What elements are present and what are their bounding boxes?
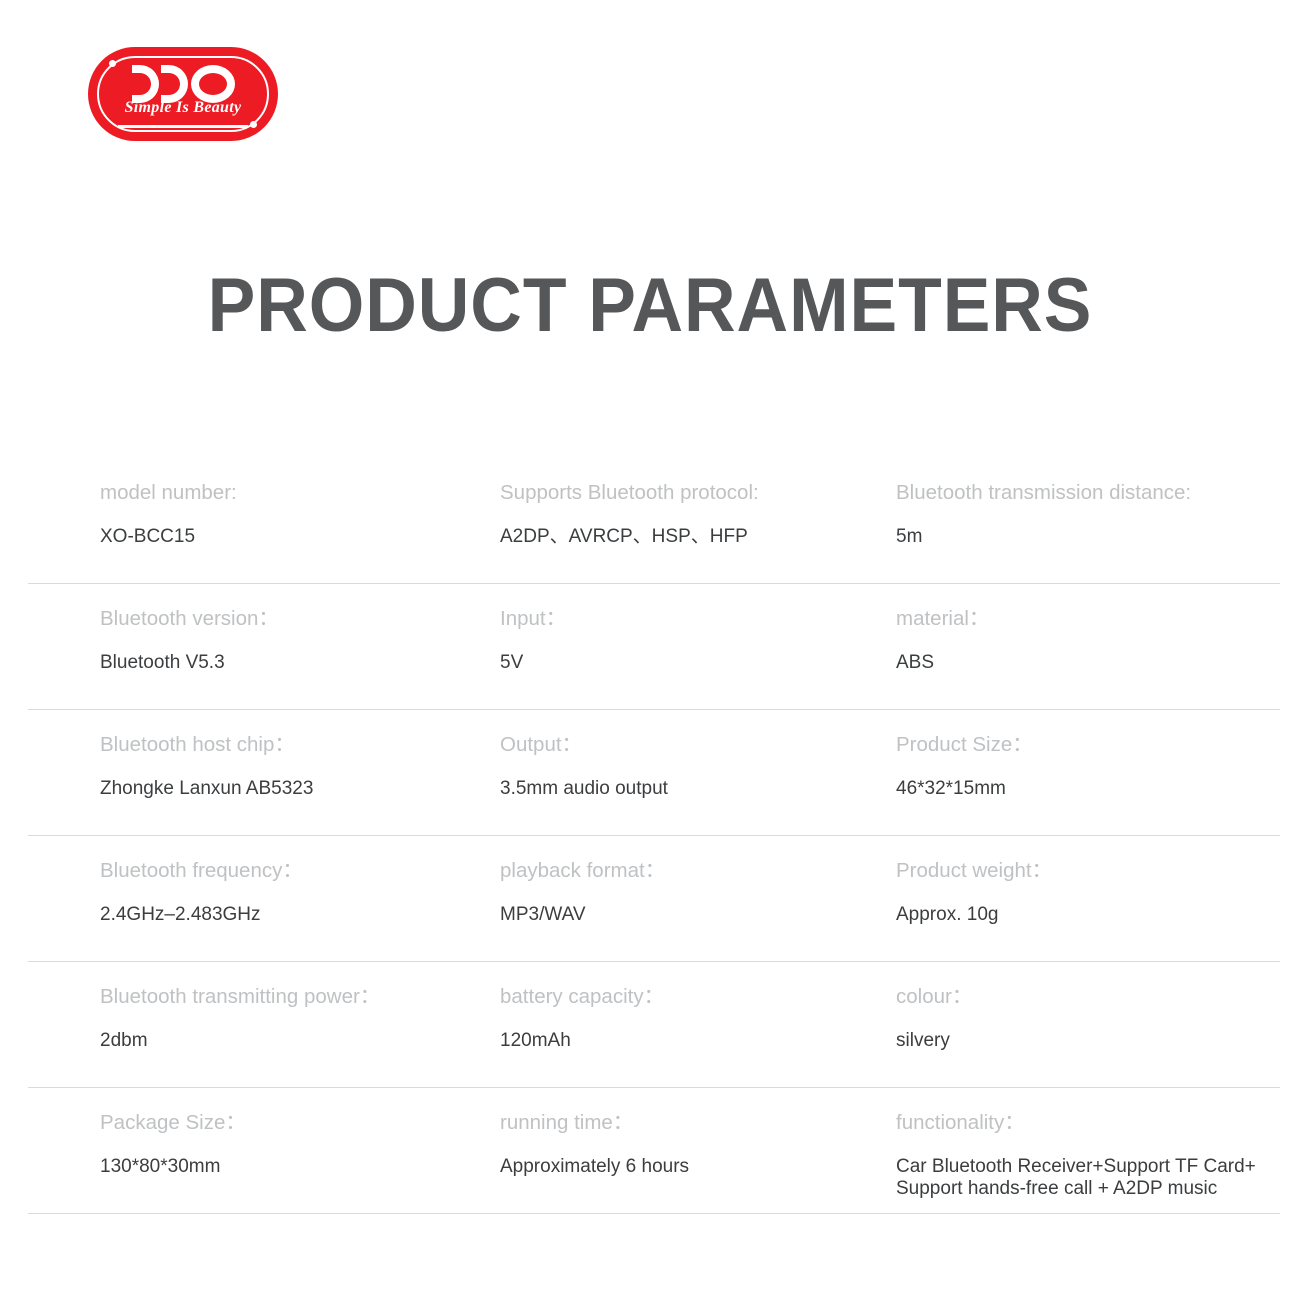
spec-cell: battery capacity： 120mAh (500, 984, 896, 1053)
logo-letter-o-icon (191, 65, 235, 103)
spec-value: Zhongke Lanxun AB5323 (100, 777, 500, 801)
spec-cell: Bluetooth version： Bluetooth V5.3 (100, 606, 500, 675)
spec-value: silvery (896, 1029, 1286, 1053)
spec-value: 2dbm (100, 1029, 500, 1053)
spec-cell: functionality： Car Bluetooth Receiver+Su… (896, 1110, 1286, 1200)
row-divider (28, 1213, 1280, 1215)
spec-cell: model number: XO-BCC15 (100, 480, 500, 549)
spec-label: Bluetooth transmission distance: (896, 480, 1286, 506)
spec-label: running time： (500, 1110, 896, 1136)
table-row: Bluetooth frequency： 2.4GHz–2.483GHz pla… (0, 836, 1300, 962)
spec-label: Bluetooth host chip： (100, 732, 500, 758)
spec-label: colour： (896, 984, 1286, 1010)
spec-cell: Package Size： 130*80*30mm (100, 1110, 500, 1179)
spec-value: Approximately 6 hours (500, 1155, 896, 1179)
spec-cell: Output： 3.5mm audio output (500, 732, 896, 801)
spec-value: Approx. 10g (896, 903, 1286, 927)
table-row: Bluetooth version： Bluetooth V5.3 Input：… (0, 584, 1300, 710)
spec-label: playback format： (500, 858, 896, 884)
spec-cell: material： ABS (896, 606, 1286, 675)
spec-label: Product Size： (896, 732, 1286, 758)
spec-cell: Product Size： 46*32*15mm (896, 732, 1286, 801)
brand-logo: Simple Is Beauty (88, 47, 278, 141)
spec-cell: colour： silvery (896, 984, 1286, 1053)
page-title: PRODUCT PARAMETERS (39, 263, 1261, 349)
spec-cell: Product weight： Approx. 10g (896, 858, 1286, 927)
spec-value: 2.4GHz–2.483GHz (100, 903, 500, 927)
spec-value: A2DP、AVRCP、HSP、HFP (500, 525, 896, 549)
spec-cell: Bluetooth frequency： 2.4GHz–2.483GHz (100, 858, 500, 927)
spec-value: MP3/WAV (500, 903, 896, 927)
spec-value: 5m (896, 525, 1286, 549)
table-row: Bluetooth transmitting power： 2dbm batte… (0, 962, 1300, 1088)
spec-value: 120mAh (500, 1029, 896, 1053)
spec-label: Bluetooth frequency： (100, 858, 500, 884)
spec-cell: Bluetooth host chip： Zhongke Lanxun AB53… (100, 732, 500, 801)
spec-label: Output： (500, 732, 896, 758)
product-parameters-table: model number: XO-BCC15 Supports Bluetoot… (0, 458, 1300, 1214)
spec-value: Bluetooth V5.3 (100, 651, 500, 675)
table-row: Bluetooth host chip： Zhongke Lanxun AB53… (0, 710, 1300, 836)
spec-cell: playback format： MP3/WAV (500, 858, 896, 927)
spec-value: Car Bluetooth Receiver+Support TF Card+ … (896, 1156, 1286, 1200)
spec-cell: running time： Approximately 6 hours (500, 1110, 896, 1179)
logo-dot-bottom-right (250, 121, 257, 128)
spec-value: 130*80*30mm (100, 1155, 500, 1179)
spec-label: Supports Bluetooth protocol: (500, 480, 896, 506)
spec-label: material： (896, 606, 1286, 632)
spec-label: Product weight： (896, 858, 1286, 884)
logo-underline (118, 125, 248, 128)
spec-cell: Input： 5V (500, 606, 896, 675)
spec-value: 46*32*15mm (896, 777, 1286, 801)
spec-cell: Bluetooth transmission distance: 5m (896, 480, 1286, 549)
logo-tagline: Simple Is Beauty (88, 99, 278, 117)
spec-cell: Supports Bluetooth protocol: A2DP、AVRCP、… (500, 480, 896, 549)
spec-label: Package Size： (100, 1110, 500, 1136)
spec-label: Bluetooth version： (100, 606, 500, 632)
spec-label: model number: (100, 480, 500, 506)
spec-label: Input： (500, 606, 896, 632)
spec-value: 3.5mm audio output (500, 777, 896, 801)
spec-value: ABS (896, 651, 1286, 675)
table-row: Package Size： 130*80*30mm running time： … (0, 1088, 1300, 1214)
logo-wordmark-xo (88, 64, 278, 104)
spec-cell: Bluetooth transmitting power： 2dbm (100, 984, 500, 1053)
spec-label: functionality： (896, 1110, 1286, 1136)
spec-value: XO-BCC15 (100, 525, 500, 549)
spec-label: battery capacity： (500, 984, 896, 1010)
spec-value: 5V (500, 651, 896, 675)
table-row: model number: XO-BCC15 Supports Bluetoot… (0, 458, 1300, 584)
logo-letter-x-icon (132, 65, 188, 103)
spec-label: Bluetooth transmitting power： (100, 984, 500, 1010)
